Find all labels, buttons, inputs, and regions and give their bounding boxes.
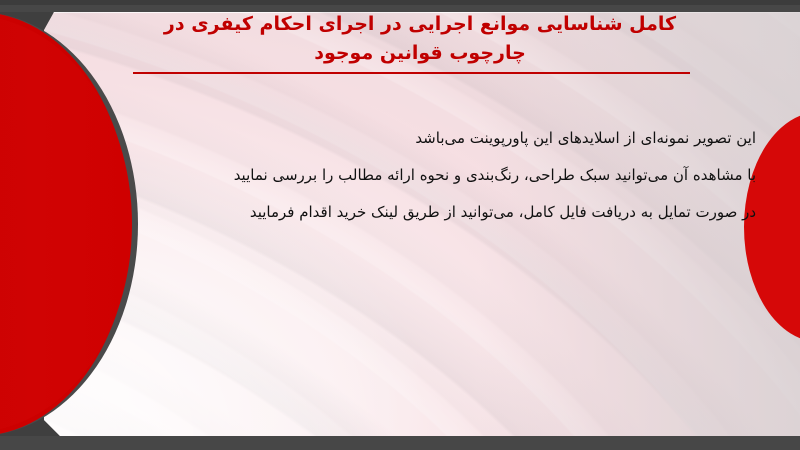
slide-title-line-1: کامل شناسایی موانع اجرایی در اجرای احکام… <box>120 10 720 39</box>
title-underline-rule <box>133 72 690 74</box>
body-line-2: با مشاهده آن می‌توانید سبک طراحی، رنگ‌بن… <box>136 157 756 194</box>
slide-title: کامل شناسایی موانع اجرایی در اجرای احکام… <box>120 10 720 68</box>
frame-bottom-bar <box>0 436 800 450</box>
slide-title-line-2: چارچوب قوانین موجود <box>120 39 720 68</box>
body-line-3: در صورت تمایل به دریافت فایل کامل، می‌تو… <box>136 194 756 231</box>
frame-top-shade <box>0 0 800 5</box>
slide-body-text: این تصویر نمونه‌ای از اسلایدهای این پاور… <box>136 120 756 231</box>
slide: کامل شناسایی موانع اجرایی در اجرای احکام… <box>0 0 800 450</box>
body-line-1: این تصویر نمونه‌ای از اسلایدهای این پاور… <box>136 120 756 157</box>
